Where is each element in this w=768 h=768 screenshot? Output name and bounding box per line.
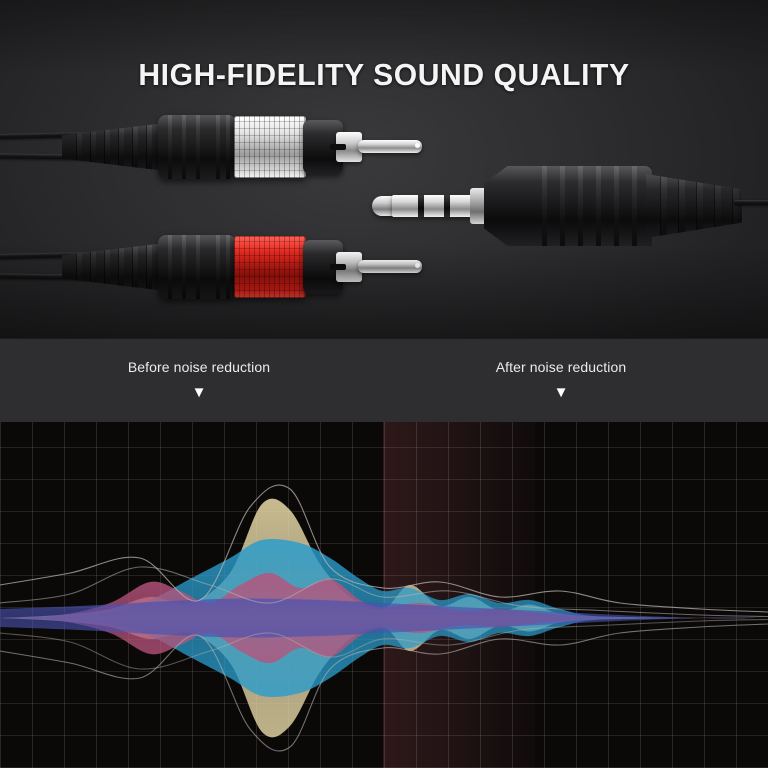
- page-title: HIGH-FIDELITY SOUND QUALITY: [12, 57, 757, 93]
- after-label: After noise reduction: [431, 359, 691, 375]
- before-pointer-icon: ▼: [69, 385, 329, 400]
- trs-tip: [372, 196, 394, 216]
- hero-section: HIGH-FIDELITY SOUND QUALITY: [0, 0, 768, 338]
- rca-center-pin: [358, 140, 422, 153]
- rca-center-pin: [358, 260, 422, 273]
- trs-insulator-ring-1: [418, 195, 424, 217]
- rca-plug-red: [62, 230, 362, 304]
- cable-wire-trs: [734, 200, 768, 205]
- rca-barrel-white: [234, 116, 306, 178]
- rca-barrel-red: [234, 236, 306, 298]
- trs-shaft: [392, 195, 474, 217]
- trs-body: [484, 166, 652, 246]
- strain-relief: [62, 243, 166, 291]
- grip-body: [158, 115, 236, 179]
- waveform-panel: [0, 422, 768, 768]
- strain-relief: [62, 123, 166, 171]
- after-pointer-icon: ▼: [431, 385, 691, 400]
- trs-strain-relief: [646, 174, 742, 238]
- product-marketing-image: HIGH-FIDELITY SOUND QUALITY: [0, 0, 768, 768]
- waveform-chart: [0, 422, 768, 768]
- trs-insulator-ring-2: [444, 195, 450, 217]
- before-label: Before noise reduction: [69, 359, 329, 375]
- waveform-series: [0, 598, 768, 637]
- trs-plug-35mm: [372, 160, 764, 252]
- comparison-label-band: Before noise reduction ▼ After noise red…: [0, 338, 768, 422]
- rca-plug-white: [62, 110, 362, 184]
- grip-body: [158, 235, 236, 299]
